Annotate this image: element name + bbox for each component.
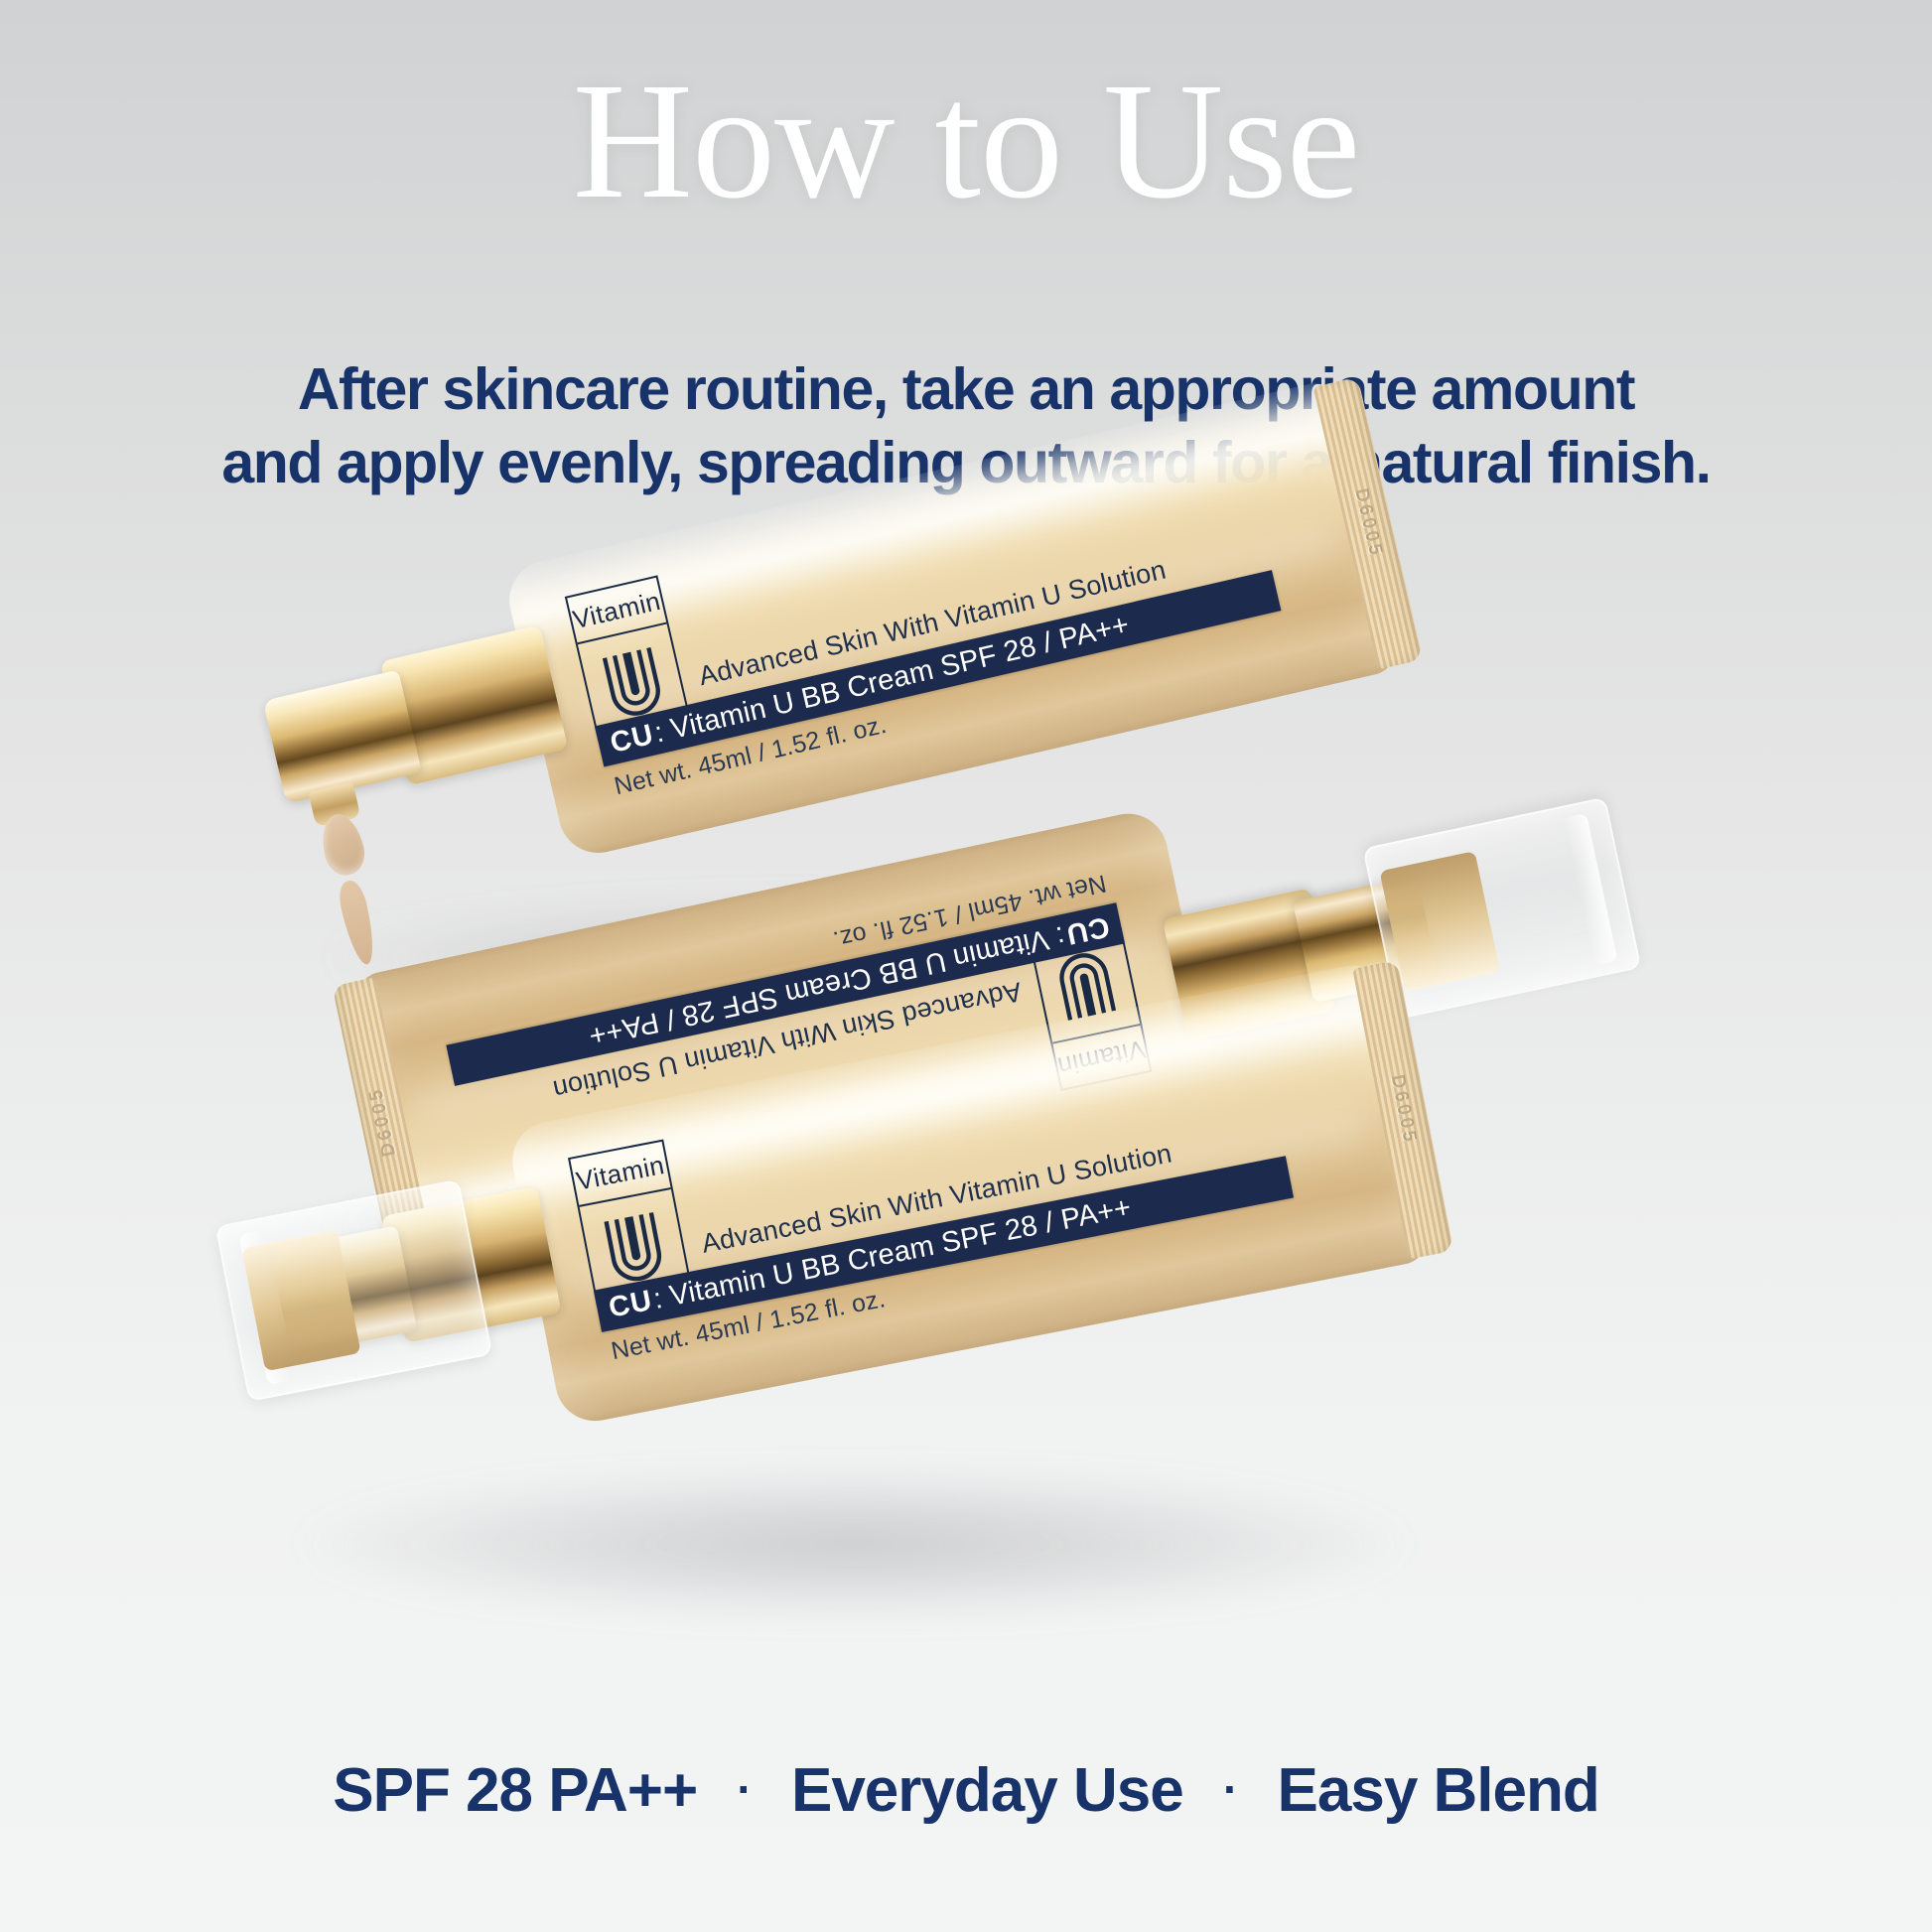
feature-tagline: SPF 28 PA++ · Everyday Use · Easy Blend <box>0 1755 1932 1826</box>
tagline-separator-2: · <box>1223 1763 1237 1815</box>
product-photo: D6005 Vitamin Advanced S <box>0 0 1932 1932</box>
brand-mark-cu: CU <box>1063 909 1113 950</box>
tagline-item-blend: Easy Blend <box>1278 1756 1599 1825</box>
tagline-separator-1: · <box>737 1763 751 1815</box>
tube-top-batch-code: D6005 <box>1349 486 1386 560</box>
brand-mark-cu: CU <box>608 718 657 759</box>
tagline-item-everyday: Everyday Use <box>791 1756 1183 1825</box>
tube-bottom-cap-inner <box>241 1229 361 1371</box>
tube-bottom-batch-code: D6005 <box>1386 1073 1421 1147</box>
tube-bottom-clear-cap[interactable] <box>215 1179 493 1402</box>
brand-mark-cu: CU <box>607 1285 655 1325</box>
tagline-item-spf: SPF 28 PA++ <box>333 1756 697 1825</box>
